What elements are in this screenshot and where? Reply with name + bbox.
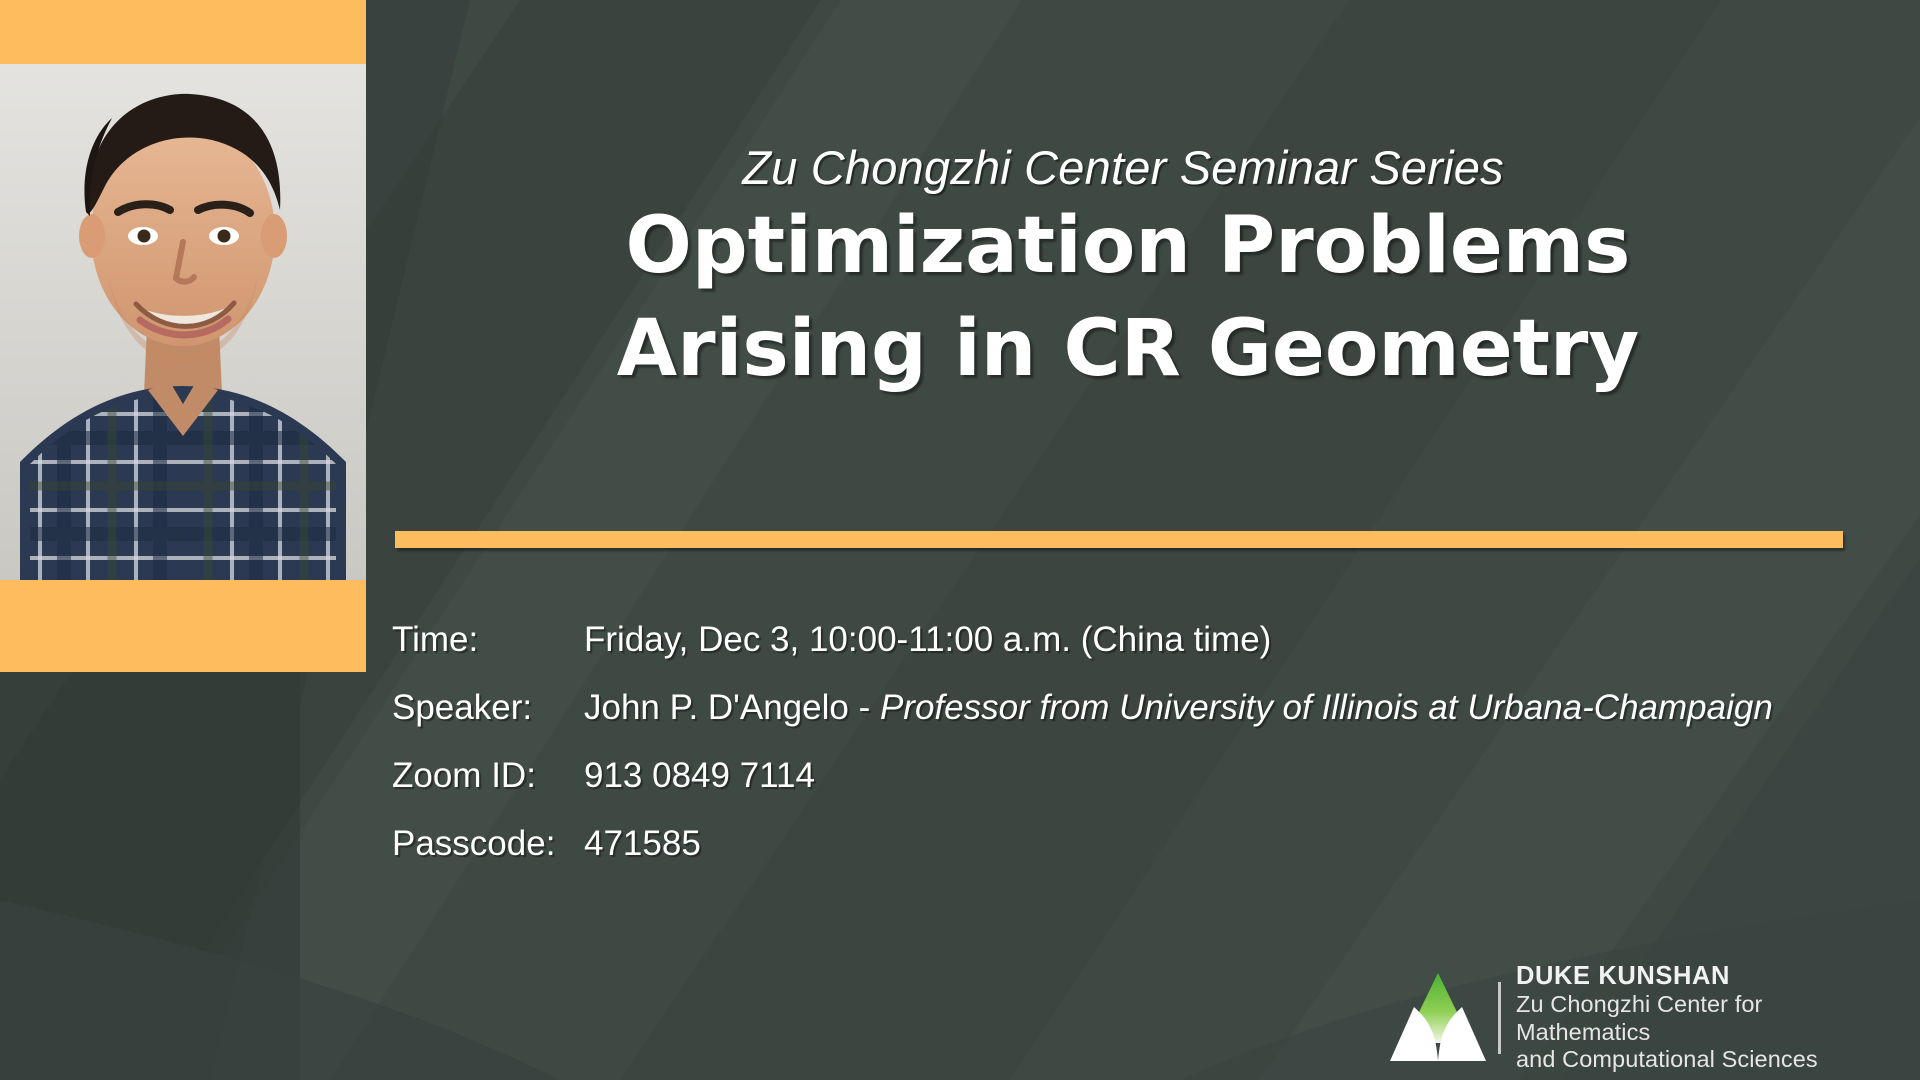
portrait-illustration bbox=[0, 64, 366, 580]
detail-value-passcode: 471585 bbox=[584, 824, 1912, 864]
detail-row-zoom-id: Zoom ID: 913 0849 7114 bbox=[392, 756, 1912, 824]
detail-row-speaker: Speaker: John P. D'Angelo - Professor fr… bbox=[392, 688, 1912, 756]
detail-row-time: Time: Friday, Dec 3, 10:00-11:00 a.m. (C… bbox=[392, 620, 1912, 688]
detail-row-passcode: Passcode: 471585 bbox=[392, 824, 1912, 892]
detail-value-speaker: John P. D'Angelo - Professor from Univer… bbox=[584, 688, 1912, 728]
event-details: Time: Friday, Dec 3, 10:00-11:00 a.m. (C… bbox=[392, 620, 1912, 892]
speaker-photo-panel bbox=[0, 0, 366, 672]
seminar-poster: Zu Chongzhi Center Seminar Series Optimi… bbox=[0, 0, 1920, 1080]
duke-kunshan-mountain-icon bbox=[1386, 969, 1490, 1067]
poster-content: Zu Chongzhi Center Seminar Series Optimi… bbox=[366, 0, 1920, 1080]
page-title: Optimization Problems Arising in CR Geom… bbox=[366, 195, 1890, 401]
detail-value-time: Friday, Dec 3, 10:00-11:00 a.m. (China t… bbox=[584, 620, 1912, 660]
detail-label-time: Time: bbox=[392, 620, 584, 660]
logo-subtitle-line-1: Zu Chongzhi Center for Mathematics bbox=[1516, 991, 1886, 1046]
detail-label-speaker: Speaker: bbox=[392, 688, 584, 728]
detail-value-zoom-id: 913 0849 7114 bbox=[584, 756, 1912, 796]
logo-subtitle-line-2: and Computational Sciences bbox=[1516, 1046, 1886, 1073]
detail-value-passcode-text: 471585 bbox=[584, 824, 701, 863]
duke-kunshan-logo: DUKE KUNSHAN Zu Chongzhi Center for Math… bbox=[1386, 965, 1886, 1070]
logo-wordmark: DUKE KUNSHAN Zu Chongzhi Center for Math… bbox=[1516, 962, 1886, 1073]
detail-label-zoom-id: Zoom ID: bbox=[392, 756, 584, 796]
speaker-portrait bbox=[0, 64, 366, 580]
detail-value-zoom-id-text: 913 0849 7114 bbox=[584, 756, 815, 795]
title-line-1: Optimization Problems bbox=[366, 195, 1890, 298]
logo-title: DUKE KUNSHAN bbox=[1516, 962, 1886, 992]
series-kicker: Zu Chongzhi Center Seminar Series bbox=[366, 140, 1880, 195]
title-line-2: Arising in CR Geometry bbox=[366, 298, 1890, 401]
logo-divider-rule bbox=[1498, 982, 1501, 1054]
detail-value-speaker-name: John P. D'Angelo - bbox=[584, 688, 880, 727]
detail-value-speaker-affiliation: Professor from University of Illinois at… bbox=[880, 688, 1773, 727]
accent-divider bbox=[395, 531, 1843, 548]
detail-value-time-text: Friday, Dec 3, 10:00-11:00 a.m. (China t… bbox=[584, 620, 1271, 659]
detail-label-passcode: Passcode: bbox=[392, 824, 584, 864]
